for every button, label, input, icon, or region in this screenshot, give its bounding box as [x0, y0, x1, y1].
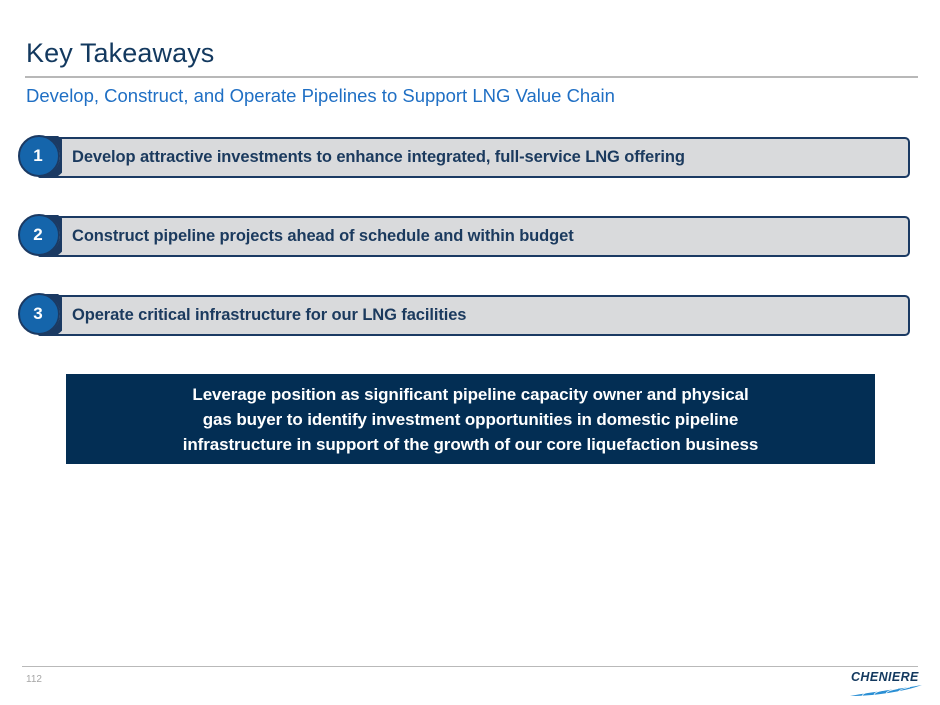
footer-divider [22, 666, 918, 667]
page-subtitle: Develop, Construct, and Operate Pipeline… [26, 85, 615, 107]
takeaway-number-2: 2 [18, 213, 62, 257]
page-title: Key Takeaways [26, 38, 214, 69]
takeaway-row-2[interactable]: Construct pipeline projects ahead of sch… [0, 213, 940, 259]
takeaway-bar-3: Operate critical infrastructure for our … [38, 295, 910, 336]
cheniere-logo: CHENIERE [848, 670, 926, 698]
takeaway-bar-1: Develop attractive investments to enhanc… [38, 137, 910, 178]
summary-callout-line-2: gas buyer to identify investment opportu… [203, 407, 738, 432]
logo-wordmark: CHENIERE [851, 670, 919, 684]
takeaway-label-2: Construct pipeline projects ahead of sch… [72, 227, 574, 246]
page-number: 112 [26, 674, 42, 685]
takeaway-badge-3: 3 [18, 292, 62, 336]
wave-swoosh-icon [848, 684, 926, 698]
summary-callout-box: Leverage position as significant pipelin… [66, 374, 875, 464]
takeaway-row-1[interactable]: Develop attractive investments to enhanc… [0, 134, 940, 180]
title-divider [25, 76, 918, 78]
summary-callout-line-1: Leverage position as significant pipelin… [192, 382, 748, 407]
takeaway-label-1: Develop attractive investments to enhanc… [72, 148, 685, 167]
takeaway-badge-1: 1 [18, 134, 62, 178]
takeaway-label-3: Operate critical infrastructure for our … [72, 306, 466, 325]
takeaway-badge-2: 2 [18, 213, 62, 257]
takeaway-bar-2: Construct pipeline projects ahead of sch… [38, 216, 910, 257]
takeaway-row-3[interactable]: Operate critical infrastructure for our … [0, 292, 940, 338]
takeaway-number-1: 1 [18, 134, 62, 178]
summary-callout-line-3: infrastructure in support of the growth … [183, 432, 758, 457]
takeaway-number-3: 3 [18, 292, 62, 336]
